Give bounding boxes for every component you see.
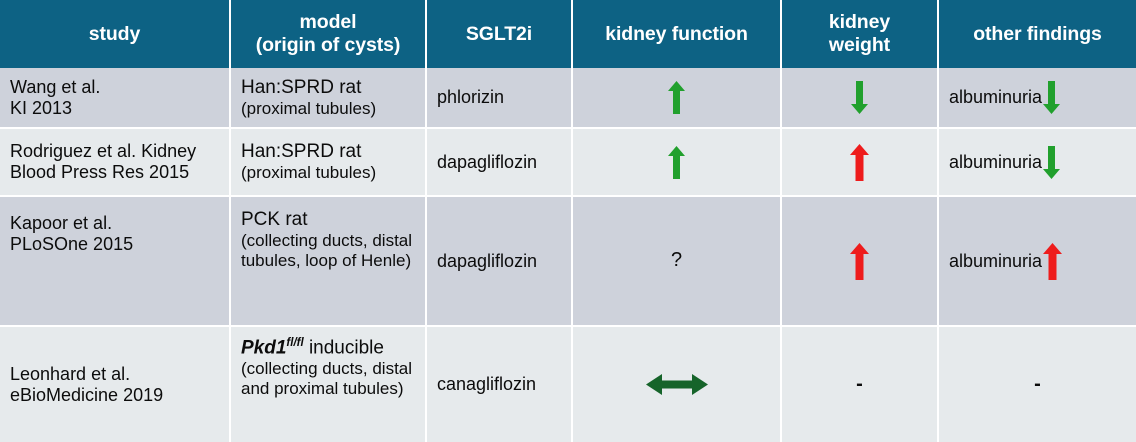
table-row: Rodriguez et al. Kidney Blood Press Res … xyxy=(0,128,1136,196)
model-name: Pkd1fl/fl inducible xyxy=(241,337,415,359)
study-line-2: PLoSOne 2015 xyxy=(10,234,219,255)
study-line-2: Blood Press Res 2015 xyxy=(10,162,219,183)
cell-study: Kapoor et al. PLoSOne 2015 xyxy=(0,196,230,326)
model-name: PCK rat xyxy=(241,209,415,231)
sglt2i-name: phlorizin xyxy=(437,87,504,107)
sglt2i-name: dapagliflozin xyxy=(437,152,537,172)
other-finding-label: albuminuria xyxy=(949,251,1042,272)
column-header-kidney-function: kidney function xyxy=(572,0,781,68)
table-row: Leonhard et al. eBioMedicine 2019 Pkd1fl… xyxy=(0,326,1136,442)
cell-sglt2i: phlorizin xyxy=(426,68,572,128)
cell-model: Han:SPRD rat (proximal tubules) xyxy=(230,128,426,196)
other-findings-not-reported: - xyxy=(1034,373,1041,395)
kidney-weight-not-reported: - xyxy=(856,373,863,395)
cell-sglt2i: canagliflozin xyxy=(426,326,572,442)
arrow-down-green-icon xyxy=(1043,146,1060,179)
column-header-kidney-weight: kidney weight xyxy=(781,0,938,68)
cell-other-findings: albuminuria xyxy=(938,196,1136,326)
arrow-down-green-icon xyxy=(1043,81,1060,114)
study-line-1: Leonhard et al. xyxy=(10,364,219,385)
model-origin: (collecting ducts, distal tubules, loop … xyxy=(241,231,415,270)
cell-kidney-weight xyxy=(781,196,938,326)
column-header-kidney-weight-label: kidney xyxy=(829,11,890,33)
kidney-function-unknown: ? xyxy=(671,249,682,271)
column-header-sglt2i-label: SGLT2i xyxy=(466,23,532,45)
column-header-study: study xyxy=(0,0,230,68)
arrow-up-red-icon xyxy=(850,144,869,181)
study-comparison-table: study model (origin of cysts) SGLT2i kid… xyxy=(0,0,1136,442)
column-header-model: model (origin of cysts) xyxy=(230,0,426,68)
study-comparison-table-container: study model (origin of cysts) SGLT2i kid… xyxy=(0,0,1136,410)
model-gene-symbol: Pkd1 xyxy=(241,337,286,358)
sglt2i-name: dapagliflozin xyxy=(437,251,537,271)
cell-kidney-function xyxy=(572,68,781,128)
other-finding-label: albuminuria xyxy=(949,87,1042,108)
model-origin: (proximal tubules) xyxy=(241,99,415,119)
column-header-sglt2i: SGLT2i xyxy=(426,0,572,68)
arrow-up-red-icon xyxy=(1043,243,1062,280)
study-line-1: Rodriguez et al. Kidney xyxy=(10,141,219,162)
cell-kidney-weight: - xyxy=(781,326,938,442)
table-row: Wang et al. KI 2013 Han:SPRD rat (proxim… xyxy=(0,68,1136,128)
header-row: study model (origin of cysts) SGLT2i kid… xyxy=(0,0,1136,68)
arrow-up-green-icon xyxy=(668,81,685,114)
arrow-down-green-icon xyxy=(851,81,868,114)
cell-study: Rodriguez et al. Kidney Blood Press Res … xyxy=(0,128,230,196)
column-header-study-label: study xyxy=(89,23,141,45)
other-finding: albuminuria xyxy=(949,243,1062,280)
model-name: Han:SPRD rat xyxy=(241,141,415,163)
cell-kidney-weight xyxy=(781,128,938,196)
cell-kidney-function xyxy=(572,326,781,442)
model-gene-superscript: fl/fl xyxy=(286,337,303,349)
model-origin: (proximal tubules) xyxy=(241,163,415,183)
study-line-1: Wang et al. xyxy=(10,77,219,98)
column-header-model-sublabel: (origin of cysts) xyxy=(237,34,419,57)
cell-sglt2i: dapagliflozin xyxy=(426,128,572,196)
cell-kidney-function xyxy=(572,128,781,196)
cell-kidney-weight xyxy=(781,68,938,128)
model-name: Han:SPRD rat xyxy=(241,77,415,99)
column-header-kidney-function-label: kidney function xyxy=(605,23,748,45)
arrow-up-red-icon xyxy=(850,243,869,280)
model-name-tail: inducible xyxy=(304,337,384,358)
cell-sglt2i: dapagliflozin xyxy=(426,196,572,326)
table-header: study model (origin of cysts) SGLT2i kid… xyxy=(0,0,1136,68)
cell-other-findings: - xyxy=(938,326,1136,442)
table-body: Wang et al. KI 2013 Han:SPRD rat (proxim… xyxy=(0,68,1136,442)
cell-other-findings: albuminuria xyxy=(938,68,1136,128)
study-line-2: eBioMedicine 2019 xyxy=(10,385,219,406)
cell-model: Han:SPRD rat (proximal tubules) xyxy=(230,68,426,128)
cell-study: Leonhard et al. eBioMedicine 2019 xyxy=(0,326,230,442)
cell-study: Wang et al. KI 2013 xyxy=(0,68,230,128)
cell-kidney-function: ? xyxy=(572,196,781,326)
table-row: Kapoor et al. PLoSOne 2015 PCK rat (coll… xyxy=(0,196,1136,326)
cell-model: PCK rat (collecting ducts, distal tubule… xyxy=(230,196,426,326)
column-header-other-findings: other findings xyxy=(938,0,1136,68)
column-header-other-findings-label: other findings xyxy=(973,23,1102,45)
column-header-model-label: model xyxy=(300,11,357,33)
cell-other-findings: albuminuria xyxy=(938,128,1136,196)
study-line-2: KI 2013 xyxy=(10,98,219,119)
column-header-kidney-weight-sublabel: weight xyxy=(788,34,931,57)
cell-model: Pkd1fl/fl inducible (collecting ducts, d… xyxy=(230,326,426,442)
other-finding: albuminuria xyxy=(949,146,1060,179)
sglt2i-name: canagliflozin xyxy=(437,374,536,394)
model-origin: (collecting ducts, distal and proximal t… xyxy=(241,359,415,398)
other-finding: albuminuria xyxy=(949,81,1060,114)
arrow-left-right-green-icon xyxy=(646,372,708,397)
study-line-1: Kapoor et al. xyxy=(10,213,219,234)
other-finding-label: albuminuria xyxy=(949,152,1042,173)
arrow-up-green-icon xyxy=(668,146,685,179)
